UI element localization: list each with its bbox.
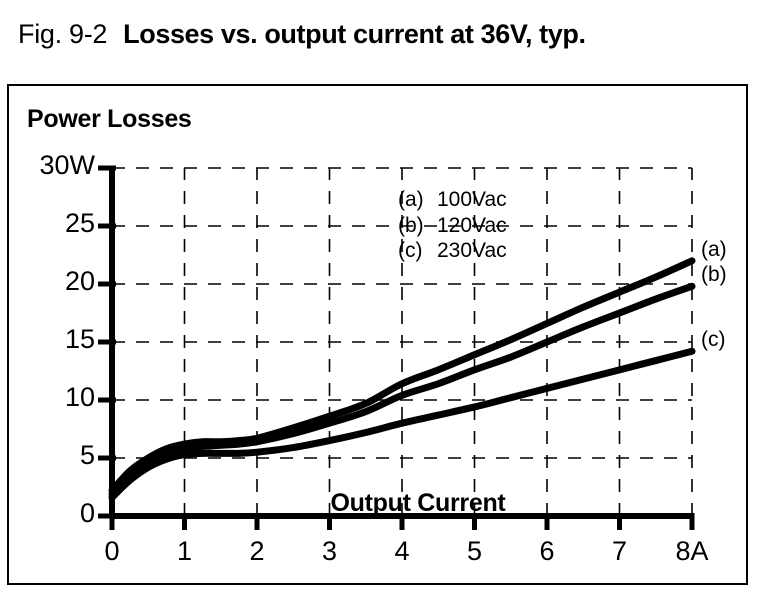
legend-label: 120Vac <box>437 213 507 239</box>
y-tick-label: 20 <box>9 268 95 295</box>
y-tick-label: 0 <box>9 500 95 527</box>
x-tick-label: 2 <box>227 538 287 565</box>
y-tick-label: 5 <box>9 442 95 469</box>
y-tick-label: 30W <box>9 152 95 179</box>
x-tick-label: 7 <box>590 538 650 565</box>
x-tick-label: 8A <box>662 538 722 565</box>
figure-title: Losses vs. output current at 36V, typ. <box>123 19 585 50</box>
x-tick-label: 1 <box>155 538 215 565</box>
x-tick-label: 5 <box>445 538 505 565</box>
chart-frame: Power Losses 051015202530W 012345678A (a… <box>7 84 748 585</box>
axis-ticks <box>98 168 692 530</box>
legend-label: 230Vac <box>437 238 507 264</box>
y-tick-label: 15 <box>9 326 95 353</box>
y-tick-label: 25 <box>9 210 95 237</box>
curve-c <box>112 351 692 497</box>
curve-end-label-b: (b) <box>701 263 727 287</box>
x-tick-label: 3 <box>300 538 360 565</box>
x-tick-label: 6 <box>517 538 577 565</box>
legend-item: (b)120Vac <box>398 213 507 239</box>
curve-end-label-a: (a) <box>701 238 727 262</box>
legend-item: (c)230Vac <box>398 238 507 264</box>
x-axis-title: Output Current <box>331 489 506 518</box>
figure-number: Fig. 9-2 <box>18 19 107 50</box>
legend-key: (a) <box>398 187 428 213</box>
x-tick-label: 0 <box>82 538 142 565</box>
x-tick-label: 4 <box>372 538 432 565</box>
legend-key: (c) <box>398 238 428 264</box>
curve-end-label-c: (c) <box>701 328 726 352</box>
y-tick-label: 10 <box>9 384 95 411</box>
legend-item: (a)100Vac <box>398 187 507 213</box>
figure-caption: Fig. 9-2 Losses vs. output current at 36… <box>18 8 748 60</box>
legend-label: 100Vac <box>437 187 507 213</box>
legend-key: (b) <box>398 213 428 239</box>
chart-legend: (a)100Vac(b)120Vac(c)230Vac <box>398 187 507 264</box>
